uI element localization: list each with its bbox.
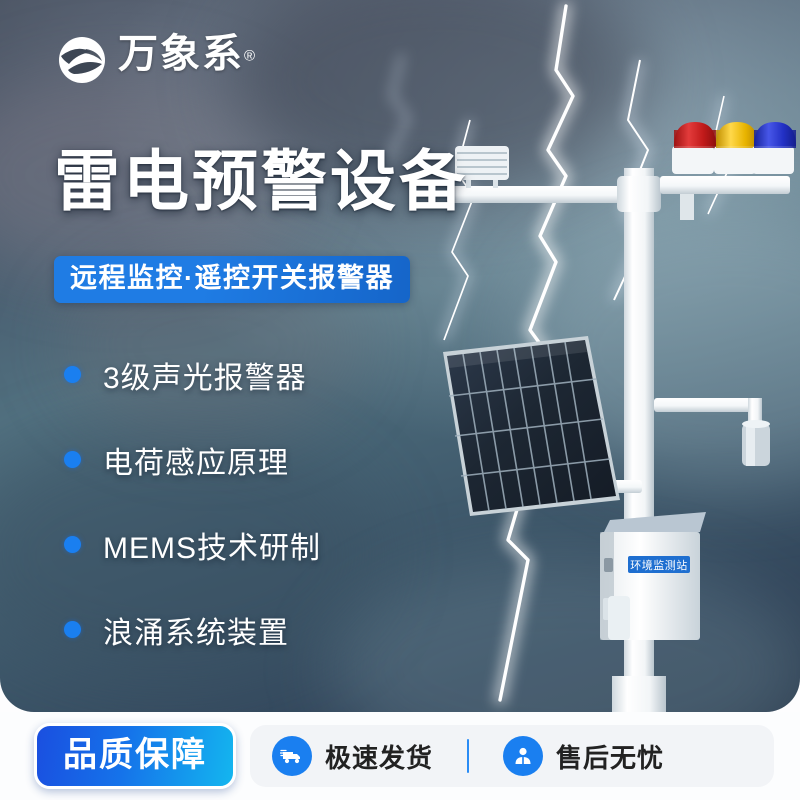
feature-item: 电荷感应原理 (64, 429, 321, 490)
customer-service-person-icon (503, 736, 543, 776)
feature-item: 3级声光报警器 (64, 344, 321, 405)
alarm-beacon-red (672, 122, 716, 174)
feature-list: 3级声光报警器 电荷感应原理 MEMS技术研制 浪涌系统装置 (64, 344, 321, 684)
feature-label: 电荷感应原理 (103, 438, 289, 482)
control-box-label: 环境监测站 (630, 558, 688, 572)
page-title: 雷电预警设备 (54, 148, 468, 214)
service-label: 极速发货 (325, 738, 433, 775)
service-divider (467, 739, 469, 773)
service-pill: 极速发货 售后无忧 (250, 725, 774, 787)
alarm-beacon-blue (752, 122, 796, 174)
service-item-shipping: 极速发货 (272, 736, 433, 776)
wanxiang-emblem-icon (56, 34, 108, 86)
service-label: 售后无忧 (556, 738, 664, 775)
alarm-beacon-yellow (714, 122, 758, 174)
feature-label: 3级声光报警器 (103, 353, 307, 397)
blue-dot-icon (64, 536, 81, 553)
brand-name: 万象系 (118, 32, 244, 76)
brand-logo: 万象系® (56, 34, 255, 86)
blue-dot-icon (64, 621, 81, 638)
quality-assurance-badge: 品质保障 (34, 723, 236, 789)
feature-item: 浪涌系统装置 (64, 599, 321, 660)
subtitle-badge: 远程监控·遥控开关报警器 (54, 256, 410, 303)
delivery-truck-icon (272, 736, 312, 776)
cylindrical-sensor (742, 420, 770, 466)
feature-label: 浪涌系统装置 (103, 608, 289, 652)
service-item-aftersales: 售后无忧 (503, 736, 664, 776)
hero-photo: 环境监测站 万象系® 雷电预警设备 远程监控·遥控开关报警器 3级声光报 (0, 0, 800, 712)
registered-trademark: ® (244, 48, 255, 65)
blue-dot-icon (64, 366, 81, 383)
feature-item: MEMS技术研制 (64, 514, 321, 575)
product-promo-poster: 环境监测站 万象系® 雷电预警设备 远程监控·遥控开关报警器 3级声光报 (0, 0, 800, 800)
control-box: 环境监测站 (600, 512, 706, 640)
feature-label: MEMS技术研制 (103, 523, 321, 567)
solar-panel (443, 336, 620, 516)
trust-bar: 品质保障 极速发货 (0, 712, 800, 800)
blue-dot-icon (64, 451, 81, 468)
